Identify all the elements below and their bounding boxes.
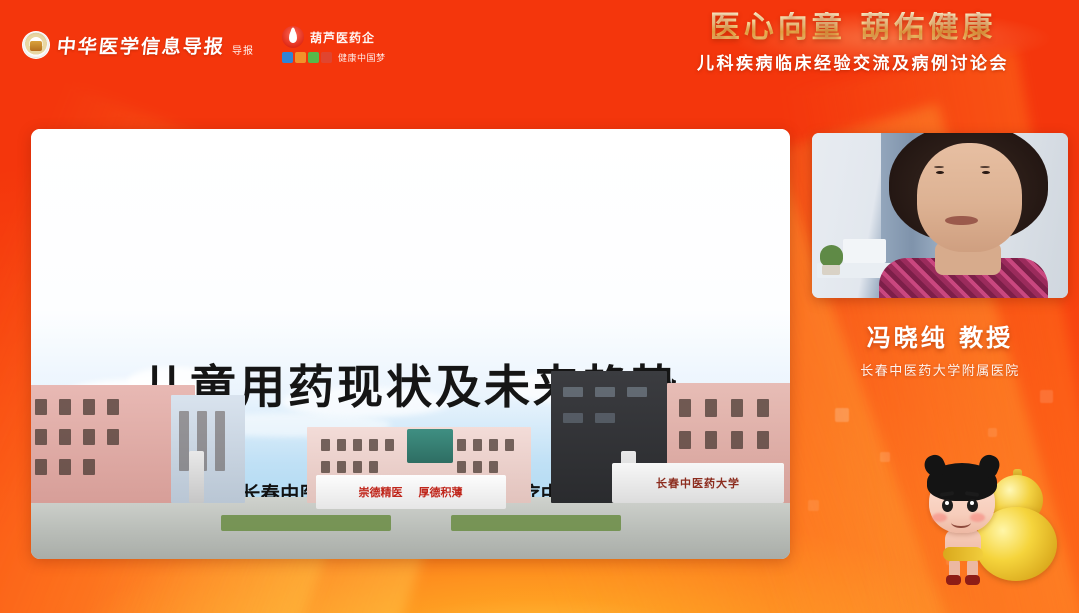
sign-wall-text: 长春中医药大学	[656, 475, 740, 491]
logo-sponsor-line2: 健康中国梦	[338, 51, 386, 64]
presentation-slide[interactable]: 儿童用药现状及未来趋势 长春中医药大学附属医院 儿童诊疗中心 长春中医药大学附属…	[31, 129, 790, 559]
campus-gate-pillar	[189, 451, 204, 503]
presenter-video-feed[interactable]	[812, 133, 1068, 298]
gourd-brand-icon	[282, 26, 304, 48]
header-bar: 中华医学信息导报 导报 葫芦医药企 健康中国梦 医心向童 葫佑健康	[0, 0, 1079, 108]
speaker-name: 冯晓纯 教授	[812, 318, 1068, 353]
presenter-face	[917, 143, 1022, 252]
medical-association-seal-icon	[22, 31, 50, 59]
video-shelf-box	[843, 239, 887, 264]
monument-text-right: 厚德积薄	[419, 484, 463, 500]
sparkle-square	[988, 428, 997, 437]
video-plant-pot	[822, 265, 840, 275]
calabash-boy-mascot	[915, 437, 1065, 587]
logo-primary-text: 中华医学信息导报	[56, 32, 227, 59]
sparkle-square	[808, 500, 819, 511]
logo-chinese-medical-association: 中华医学信息导报 导报	[22, 31, 254, 59]
campus-photo: 崇德精医 厚德积薄 长春中医药大学	[31, 364, 790, 559]
video-plant	[820, 245, 843, 266]
sparkle-square	[1040, 390, 1053, 403]
mascot-character	[921, 459, 1007, 583]
broadcast-screen: 中华医学信息导报 导报 葫芦医药企 健康中国梦 医心向童 葫佑健康	[0, 0, 1079, 613]
campus-sign-wall: 长春中医药大学	[612, 463, 784, 503]
event-title: 医心向童 葫佑健康	[643, 12, 1063, 44]
logo-sponsor-line1: 葫芦医药企	[310, 29, 375, 46]
speaker-affiliation: 长春中医药大学附属医院	[812, 360, 1068, 379]
sponsor-color-chips-icon	[282, 52, 332, 63]
header-logos: 中华医学信息导报 导报 葫芦医药企 健康中国梦	[22, 26, 386, 64]
sparkle-square	[880, 452, 890, 462]
logo-sponsor: 葫芦医药企 健康中国梦	[282, 26, 386, 64]
speaker-info: 冯晓纯 教授 长春中医药大学附属医院	[812, 318, 1068, 379]
sparkle-square	[835, 408, 849, 422]
campus-monument: 崇德精医 厚德积薄	[316, 475, 506, 509]
building-left-annex	[171, 395, 245, 503]
event-banner: 医心向童 葫佑健康 儿科疾病临床经验交流及病例讨论会	[643, 12, 1063, 74]
monument-text-left: 崇德精医	[359, 484, 403, 500]
logo-primary-suffix: 导报	[232, 42, 254, 57]
event-subtitle: 儿科疾病临床经验交流及病例讨论会	[643, 49, 1063, 74]
